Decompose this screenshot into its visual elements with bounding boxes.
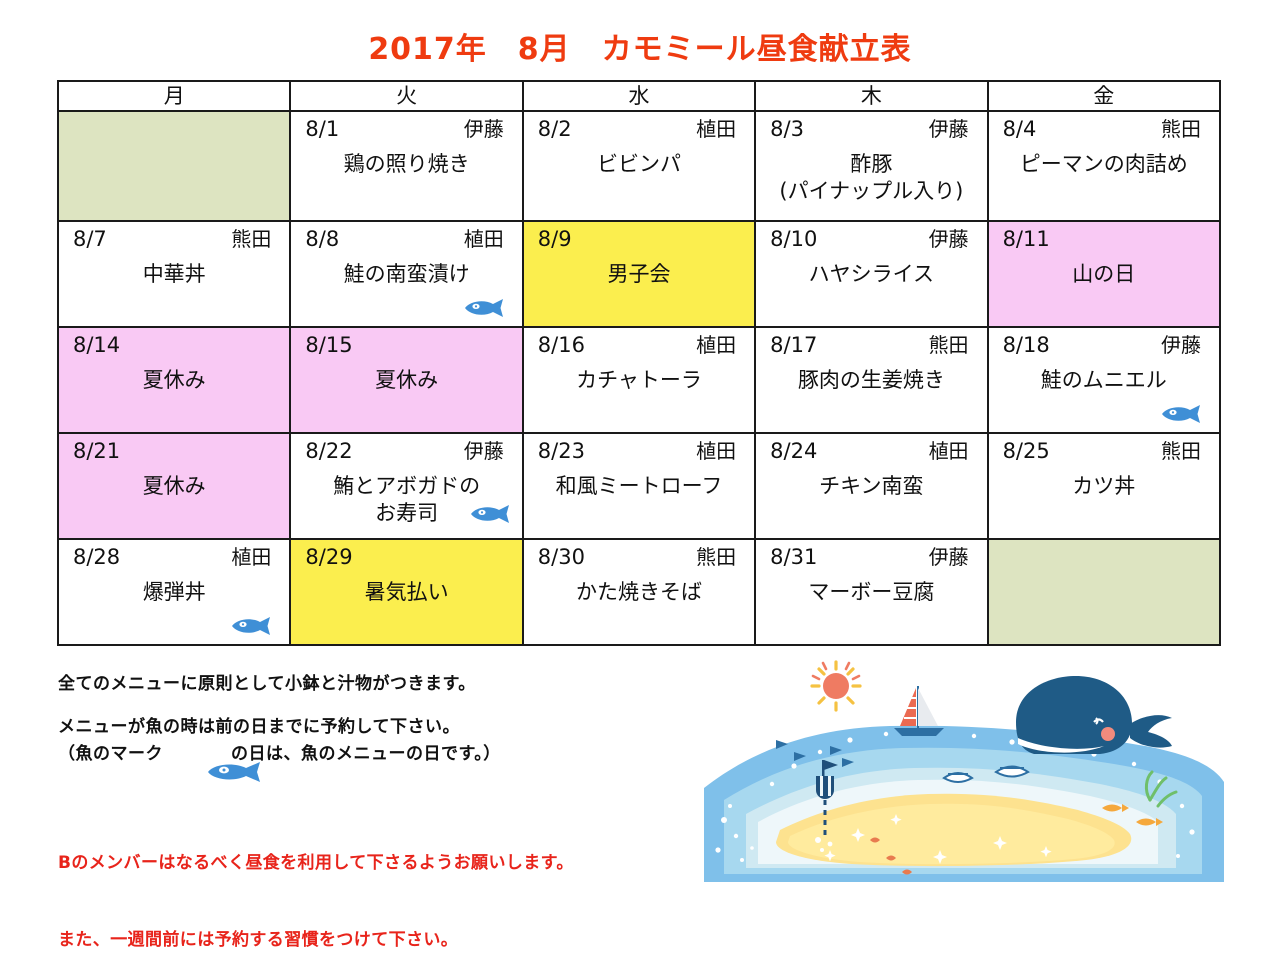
fish-icon bbox=[1159, 404, 1205, 424]
day-date: 8/29 bbox=[299, 544, 352, 570]
day-menu-text: 山の日 bbox=[997, 261, 1211, 287]
calendar-cell[interactable]: 8/21夏休み bbox=[58, 433, 290, 539]
calendar-cell[interactable]: 8/8植田鮭の南蛮漬け bbox=[290, 221, 522, 327]
sun-icon bbox=[812, 662, 860, 710]
day-date: 8/7 bbox=[67, 226, 107, 252]
day-menu-text: 豚肉の生姜焼き bbox=[764, 367, 978, 393]
day-staff-name: 熊田 bbox=[1161, 439, 1211, 464]
day-date: 8/3 bbox=[764, 116, 804, 142]
day-cell: 8/29暑気払い bbox=[291, 540, 521, 644]
day-staff-name: 植田 bbox=[231, 545, 281, 570]
menu-calendar: 月 火 水 木 金 8/1伊藤鶏の照り焼き8/2植田ビビンパ8/3伊藤酢豚 (パ… bbox=[57, 80, 1221, 646]
calendar-week-row: 8/14夏休み8/15夏休み8/16植田カチャトーラ8/17熊田豚肉の生姜焼き8… bbox=[58, 327, 1220, 433]
day-cell: 8/2植田ビビンパ bbox=[524, 112, 754, 220]
sailboat-icon bbox=[894, 686, 944, 736]
day-date: 8/25 bbox=[997, 438, 1050, 464]
calendar-cell[interactable]: 8/31伊藤マーボー豆腐 bbox=[755, 539, 987, 645]
empty-day-cell bbox=[59, 112, 289, 220]
weekday-header-tue: 火 bbox=[290, 81, 522, 111]
day-menu-text: 夏休み bbox=[67, 473, 281, 499]
day-cell-header: 8/7熊田 bbox=[67, 226, 281, 252]
calendar-cell[interactable]: 8/30熊田かた焼きそば bbox=[523, 539, 755, 645]
day-staff-name: 伊藤 bbox=[929, 117, 979, 142]
day-date: 8/10 bbox=[764, 226, 817, 252]
calendar-cell[interactable]: 8/23植田和風ミートローフ bbox=[523, 433, 755, 539]
day-cell: 8/1伊藤鶏の照り焼き bbox=[291, 112, 521, 220]
day-date: 8/28 bbox=[67, 544, 120, 570]
day-date: 8/14 bbox=[67, 332, 120, 358]
day-cell: 8/3伊藤酢豚 (パイナップル入り) bbox=[756, 112, 986, 220]
fish-icon bbox=[165, 741, 229, 763]
day-staff-name: 伊藤 bbox=[464, 117, 514, 142]
calendar-week-row: 8/7熊田中華丼8/8植田鮭の南蛮漬け8/9男子会8/10伊藤ハヤシライス8/1… bbox=[58, 221, 1220, 327]
day-date: 8/30 bbox=[532, 544, 585, 570]
day-menu-text: カチャトーラ bbox=[532, 367, 746, 393]
day-date: 8/23 bbox=[532, 438, 585, 464]
day-cell: 8/9男子会 bbox=[524, 222, 754, 326]
day-menu-text: 酢豚 (パイナップル入り) bbox=[764, 151, 978, 204]
day-cell: 8/28植田爆弾丼 bbox=[59, 540, 289, 644]
day-cell-header: 8/17熊田 bbox=[764, 332, 978, 358]
day-date: 8/9 bbox=[532, 226, 572, 252]
calendar-week-row: 8/21夏休み8/22伊藤鮪とアボガドの お寿司8/23植田和風ミートローフ8/… bbox=[58, 433, 1220, 539]
day-menu-text: 中華丼 bbox=[67, 261, 281, 287]
day-menu-text: チキン南蛮 bbox=[764, 473, 978, 499]
footer-red-notes: Bのメンバーはなるべく昼食を利用して下さるようお願いします。 また、一週間前には… bbox=[58, 800, 574, 979]
day-staff-name: 伊藤 bbox=[1161, 333, 1211, 358]
calendar-cell[interactable]: 8/10伊藤ハヤシライス bbox=[755, 221, 987, 327]
calendar-cell[interactable]: 8/2植田ビビンパ bbox=[523, 111, 755, 221]
calendar-cell[interactable]: 8/9男子会 bbox=[523, 221, 755, 327]
day-cell-header: 8/4熊田 bbox=[997, 116, 1211, 142]
day-cell-header: 8/9 bbox=[532, 226, 746, 252]
calendar-cell[interactable]: 8/1伊藤鶏の照り焼き bbox=[290, 111, 522, 221]
note-line-3-before: （魚のマーク bbox=[58, 739, 163, 764]
calendar-cell[interactable]: 8/18伊藤鮭のムニエル bbox=[988, 327, 1220, 433]
fish-icon bbox=[229, 616, 275, 636]
calendar-header-row: 月 火 水 木 金 bbox=[58, 81, 1220, 111]
day-date: 8/11 bbox=[997, 226, 1050, 252]
calendar-cell[interactable]: 8/14夏休み bbox=[58, 327, 290, 433]
day-cell: 8/4熊田ピーマンの肉詰め bbox=[989, 112, 1219, 220]
day-cell-header: 8/23植田 bbox=[532, 438, 746, 464]
calendar-cell[interactable]: 8/11山の日 bbox=[988, 221, 1220, 327]
day-staff-name: 伊藤 bbox=[464, 439, 514, 464]
note-line-1: 全てのメニューに原則として小鉢と汁物がつきます。 bbox=[58, 672, 698, 697]
calendar-cell[interactable]: 8/28植田爆弾丼 bbox=[58, 539, 290, 645]
day-cell: 8/14夏休み bbox=[59, 328, 289, 432]
day-cell-header: 8/16植田 bbox=[532, 332, 746, 358]
calendar-cell[interactable]: 8/7熊田中華丼 bbox=[58, 221, 290, 327]
calendar-cell[interactable]: 8/25熊田カツ丼 bbox=[988, 433, 1220, 539]
day-date: 8/22 bbox=[299, 438, 352, 464]
day-staff-name: 熊田 bbox=[696, 545, 746, 570]
day-cell-header: 8/29 bbox=[299, 544, 513, 570]
fish-icon bbox=[468, 504, 514, 524]
day-cell: 8/22伊藤鮪とアボガドの お寿司 bbox=[291, 434, 521, 538]
calendar-week-row: 8/28植田爆弾丼8/29暑気払い8/30熊田かた焼きそば8/31伊藤マーボー豆… bbox=[58, 539, 1220, 645]
day-cell: 8/30熊田かた焼きそば bbox=[524, 540, 754, 644]
day-staff-name: 熊田 bbox=[1161, 117, 1211, 142]
day-menu-text: 鮭のムニエル bbox=[997, 367, 1211, 393]
day-cell-header: 8/28植田 bbox=[67, 544, 281, 570]
day-cell-header: 8/18伊藤 bbox=[997, 332, 1211, 358]
day-cell: 8/11山の日 bbox=[989, 222, 1219, 326]
day-cell-header: 8/8植田 bbox=[299, 226, 513, 252]
day-menu-text: 暑気払い bbox=[299, 579, 513, 605]
day-cell-header: 8/22伊藤 bbox=[299, 438, 513, 464]
day-date: 8/18 bbox=[997, 332, 1050, 358]
day-staff-name: 植田 bbox=[696, 439, 746, 464]
day-date: 8/16 bbox=[532, 332, 585, 358]
note-line-3-after: の日は、魚のメニューの日です。） bbox=[231, 739, 501, 764]
calendar-cell[interactable] bbox=[58, 111, 290, 221]
day-cell: 8/16植田カチャトーラ bbox=[524, 328, 754, 432]
day-date: 8/1 bbox=[299, 116, 339, 142]
day-cell: 8/10伊藤ハヤシライス bbox=[756, 222, 986, 326]
footer-notes: 全てのメニューに原則として小鉢と汁物がつきます。 メニューが魚の時は前の日までに… bbox=[58, 672, 698, 764]
day-cell-header: 8/24植田 bbox=[764, 438, 978, 464]
day-menu-text: ピーマンの肉詰め bbox=[997, 151, 1211, 177]
calendar-week-row: 8/1伊藤鶏の照り焼き8/2植田ビビンパ8/3伊藤酢豚 (パイナップル入り)8/… bbox=[58, 111, 1220, 221]
day-staff-name: 植田 bbox=[696, 117, 746, 142]
day-cell: 8/15夏休み bbox=[291, 328, 521, 432]
day-menu-text: 爆弾丼 bbox=[67, 579, 281, 605]
calendar-cell[interactable]: 8/16植田カチャトーラ bbox=[523, 327, 755, 433]
day-menu-text: 夏休み bbox=[299, 367, 513, 393]
calendar-body: 8/1伊藤鶏の照り焼き8/2植田ビビンパ8/3伊藤酢豚 (パイナップル入り)8/… bbox=[58, 111, 1220, 645]
day-menu-text: 鶏の照り焼き bbox=[299, 151, 513, 177]
day-menu-text: ハヤシライス bbox=[764, 261, 978, 287]
page-title: 2017年 8月 カモミール昼食献立表 bbox=[0, 24, 1280, 68]
day-cell-header: 8/25熊田 bbox=[997, 438, 1211, 464]
day-cell-header: 8/15 bbox=[299, 332, 513, 358]
day-date: 8/31 bbox=[764, 544, 817, 570]
day-cell-header: 8/21 bbox=[67, 438, 281, 464]
day-staff-name: 植田 bbox=[464, 227, 514, 252]
calendar-cell[interactable]: 8/22伊藤鮪とアボガドの お寿司 bbox=[290, 433, 522, 539]
calendar-cell[interactable] bbox=[988, 539, 1220, 645]
day-menu-text: マーボー豆腐 bbox=[764, 579, 978, 605]
calendar-table: 月 火 水 木 金 8/1伊藤鶏の照り焼き8/2植田ビビンパ8/3伊藤酢豚 (パ… bbox=[57, 80, 1221, 646]
empty-day-cell bbox=[989, 540, 1219, 644]
day-menu-text: ビビンパ bbox=[532, 151, 746, 177]
day-cell: 8/31伊藤マーボー豆腐 bbox=[756, 540, 986, 644]
calendar-cell[interactable]: 8/15夏休み bbox=[290, 327, 522, 433]
day-cell: 8/18伊藤鮭のムニエル bbox=[989, 328, 1219, 432]
weekday-header-fri: 金 bbox=[988, 81, 1220, 111]
note-line-2: メニューが魚の時は前の日までに予約して下さい。 bbox=[58, 715, 698, 740]
day-cell: 8/8植田鮭の南蛮漬け bbox=[291, 222, 521, 326]
day-menu-text: 鮭の南蛮漬け bbox=[299, 261, 513, 287]
day-cell-header: 8/11 bbox=[997, 226, 1211, 252]
day-cell: 8/25熊田カツ丼 bbox=[989, 434, 1219, 538]
day-cell-header: 8/1伊藤 bbox=[299, 116, 513, 142]
day-cell-header: 8/2植田 bbox=[532, 116, 746, 142]
day-cell-header: 8/31伊藤 bbox=[764, 544, 978, 570]
day-menu-text: 和風ミートローフ bbox=[532, 473, 746, 499]
day-cell: 8/17熊田豚肉の生姜焼き bbox=[756, 328, 986, 432]
day-staff-name: 植田 bbox=[696, 333, 746, 358]
calendar-cell[interactable]: 8/3伊藤酢豚 (パイナップル入り) bbox=[755, 111, 987, 221]
day-menu-text: カツ丼 bbox=[997, 473, 1211, 499]
day-date: 8/8 bbox=[299, 226, 339, 252]
weekday-header-wed: 水 bbox=[523, 81, 755, 111]
calendar-cell[interactable]: 8/29暑気払い bbox=[290, 539, 522, 645]
day-cell: 8/24植田チキン南蛮 bbox=[756, 434, 986, 538]
day-date: 8/4 bbox=[997, 116, 1037, 142]
calendar-cell[interactable]: 8/24植田チキン南蛮 bbox=[755, 433, 987, 539]
red-note-line-2: また、一週間前には予約する習慣をつけて下さい。 bbox=[58, 928, 574, 954]
day-staff-name: 熊田 bbox=[231, 227, 281, 252]
weekday-header-mon: 月 bbox=[58, 81, 290, 111]
day-menu-text: かた焼きそば bbox=[532, 579, 746, 605]
day-staff-name: 熊田 bbox=[929, 333, 979, 358]
day-date: 8/15 bbox=[299, 332, 352, 358]
day-staff-name: 伊藤 bbox=[929, 227, 979, 252]
fish-icon bbox=[462, 298, 508, 318]
day-cell: 8/21夏休み bbox=[59, 434, 289, 538]
day-staff-name: 伊藤 bbox=[929, 545, 979, 570]
whale-icon bbox=[1016, 676, 1172, 754]
day-date: 8/24 bbox=[764, 438, 817, 464]
day-staff-name: 植田 bbox=[929, 439, 979, 464]
day-date: 8/21 bbox=[67, 438, 120, 464]
day-date: 8/2 bbox=[532, 116, 572, 142]
weekday-header-thu: 木 bbox=[755, 81, 987, 111]
note-line-3: （魚のマーク の日は、魚のメニューの日です。） bbox=[58, 739, 698, 764]
day-cell-header: 8/3伊藤 bbox=[764, 116, 978, 142]
day-cell-header: 8/30熊田 bbox=[532, 544, 746, 570]
calendar-cell[interactable]: 8/4熊田ピーマンの肉詰め bbox=[988, 111, 1220, 221]
day-menu-text: 夏休み bbox=[67, 367, 281, 393]
day-cell-header: 8/14 bbox=[67, 332, 281, 358]
day-date: 8/17 bbox=[764, 332, 817, 358]
summer-beach-illustration bbox=[690, 660, 1235, 900]
day-menu-text: 男子会 bbox=[532, 261, 746, 287]
day-cell: 8/7熊田中華丼 bbox=[59, 222, 289, 326]
calendar-cell[interactable]: 8/17熊田豚肉の生姜焼き bbox=[755, 327, 987, 433]
red-note-line-1: Bのメンバーはなるべく昼食を利用して下さるようお願いします。 bbox=[58, 851, 574, 877]
day-cell-header: 8/10伊藤 bbox=[764, 226, 978, 252]
day-cell: 8/23植田和風ミートローフ bbox=[524, 434, 754, 538]
